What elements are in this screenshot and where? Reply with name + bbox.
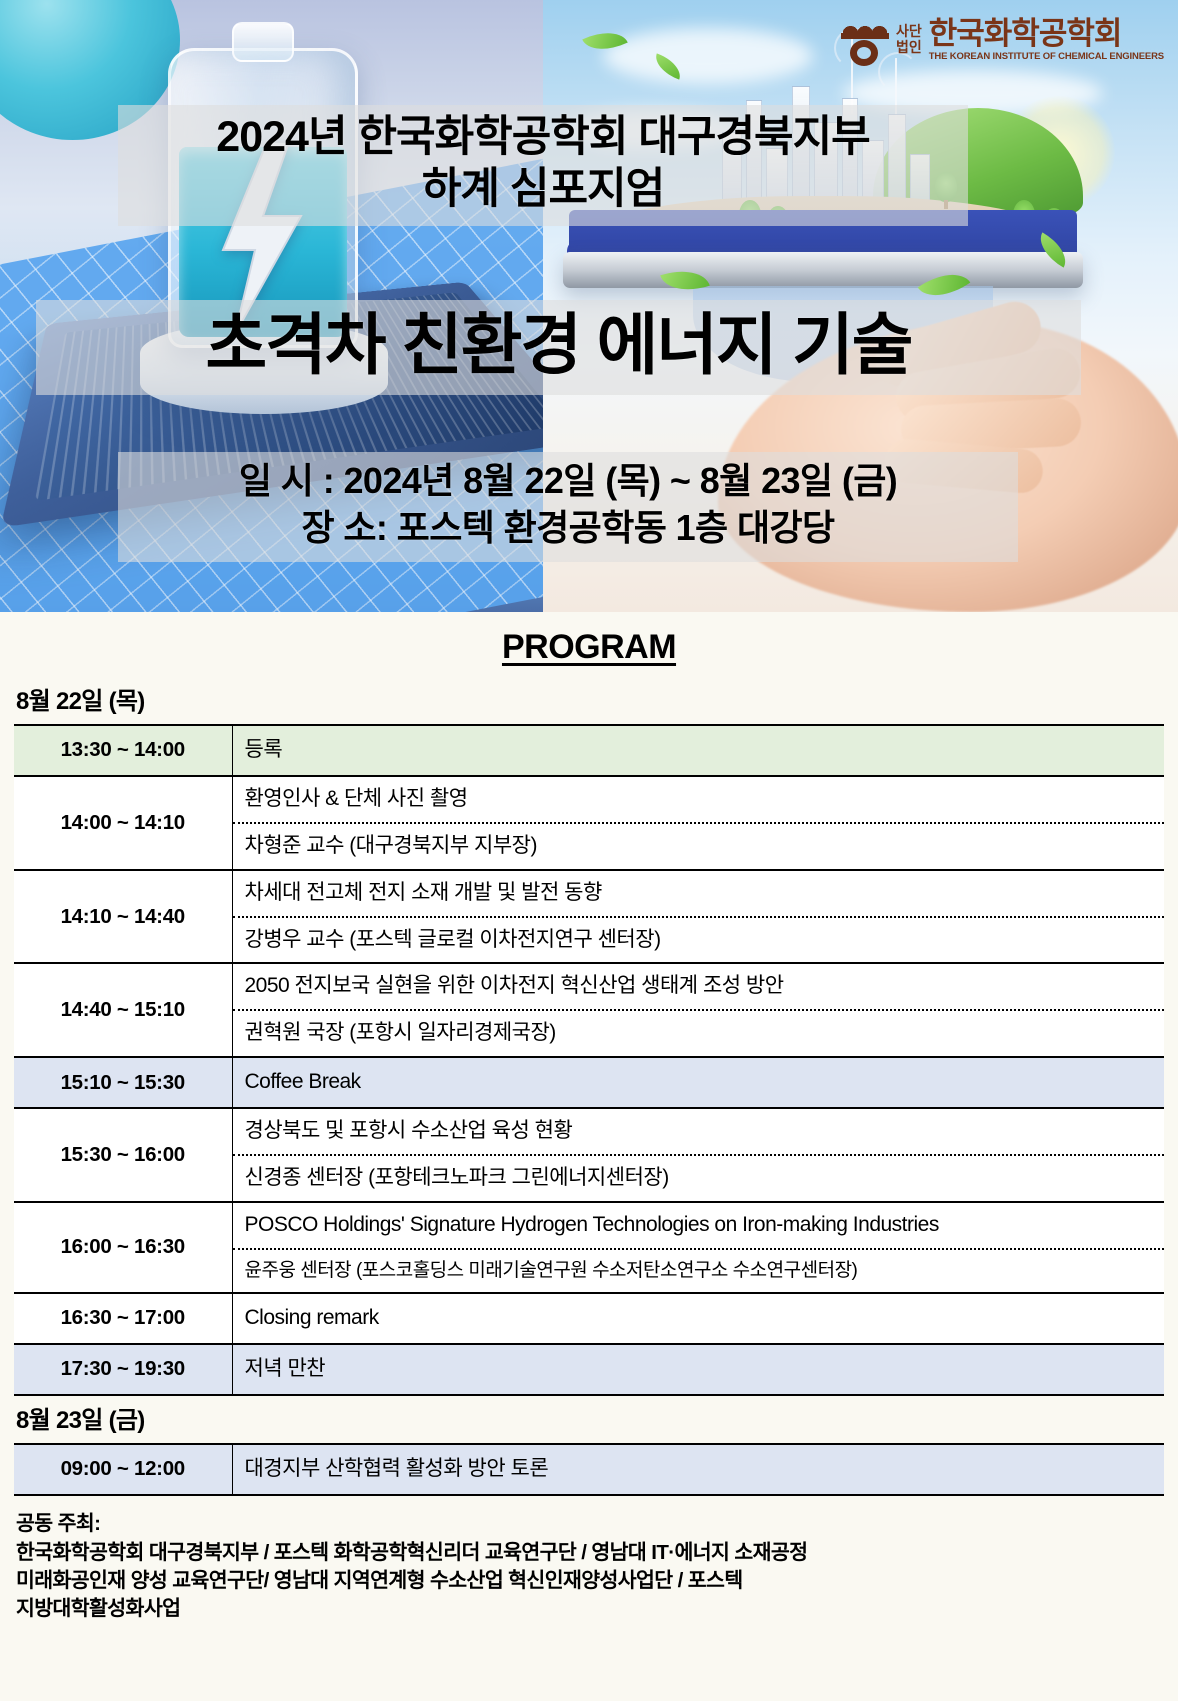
battery-cap (232, 22, 294, 62)
row-title: 2050 전지보국 실현을 위한 이차전지 혁신산업 생태계 조성 방안 (233, 964, 1165, 1009)
table-row: 16:00 ~ 16:30 POSCO Holdings' Signature … (14, 1202, 1164, 1293)
table-row: 09:00 ~ 12:00 대경지부 산학협력 활성화 방안 토론 (14, 1444, 1164, 1495)
table-row: 14:10 ~ 14:40 차세대 전고체 전지 소재 개발 및 발전 동향 강… (14, 870, 1164, 964)
row-time: 14:40 ~ 15:10 (14, 963, 232, 1057)
program-heading: PROGRAM (14, 628, 1164, 667)
day-label-1: 8월 22일 (목) (16, 681, 1164, 716)
row-time: 15:30 ~ 16:00 (14, 1108, 232, 1202)
row-title: 차세대 전고체 전지 소재 개발 및 발전 동향 (233, 871, 1165, 916)
logo-sadan-line2: 법인 (896, 40, 922, 56)
event-theme: 초격차 친환경 에너지 기술 (36, 300, 1081, 395)
row-content: 저녁 만찬 (232, 1344, 1164, 1395)
event-title-line1: 2024년 한국화학공학회 대구경북지부 (118, 111, 968, 163)
table-row: 16:30 ~ 17:00 Closing remark (14, 1293, 1164, 1344)
row-title: 대경지부 산학협력 활성화 방안 토론 (233, 1445, 1165, 1494)
row-speaker: 신경종 센터장 (포항테크노파크 그린에너지센터장) (233, 1154, 1165, 1201)
row-speaker: 윤주웅 센터장 (포스코홀딩스 미래기술연구원 수소저탄소연구소 수소연구센터장… (233, 1248, 1165, 1292)
cohost-section: 공동 주최: 한국화학공학회 대구경북지부 / 포스텍 화학공학혁신리더 교육연… (16, 1510, 1164, 1624)
row-time: 09:00 ~ 12:00 (14, 1444, 232, 1495)
row-content: 차세대 전고체 전지 소재 개발 및 발전 동향 강병우 교수 (포스텍 글로컬… (232, 870, 1164, 964)
row-title: 저녁 만찬 (233, 1345, 1165, 1394)
event-info: 일 시 : 2024년 8월 22일 (목) ~ 8월 23일 (금) 장 소:… (118, 452, 1018, 562)
kice-logo: 사단 법인 한국화학공학회 THE KOREAN INSTITUTE OF CH… (841, 14, 1164, 66)
row-time: 16:00 ~ 16:30 (14, 1202, 232, 1293)
row-title: Closing remark (233, 1294, 1165, 1343)
row-speaker: 권혁원 국장 (포항시 일자리경제국장) (233, 1009, 1165, 1056)
program-section: PROGRAM 8월 22일 (목) 13:30 ~ 14:00 등록 14:0… (0, 628, 1178, 1623)
schedule-table-day1: 13:30 ~ 14:00 등록 14:00 ~ 14:10 환영인사 & 단체… (14, 724, 1164, 1396)
table-row: 13:30 ~ 14:00 등록 (14, 725, 1164, 776)
cohost-heading: 공동 주최: (16, 1510, 1164, 1538)
table-row: 15:10 ~ 15:30 Coffee Break (14, 1057, 1164, 1108)
row-speaker: 강병우 교수 (포스텍 글로컬 이차전지연구 센터장) (233, 916, 1165, 963)
row-content: 대경지부 산학협력 활성화 방안 토론 (232, 1444, 1164, 1495)
table-row: 14:40 ~ 15:10 2050 전지보국 실현을 위한 이차전지 혁신산업… (14, 963, 1164, 1057)
row-title: 경상북도 및 포항시 수소산업 육성 현황 (233, 1109, 1165, 1154)
logo-korean-name: 한국화학공학회 (929, 18, 1164, 49)
row-time: 15:10 ~ 15:30 (14, 1057, 232, 1108)
row-title: POSCO Holdings' Signature Hydrogen Techn… (233, 1203, 1165, 1248)
row-content: 환영인사 & 단체 사진 촬영 차형준 교수 (대구경북지부 지부장) (232, 776, 1164, 870)
row-time: 13:30 ~ 14:00 (14, 725, 232, 776)
event-title: 2024년 한국화학공학회 대구경북지부 하계 심포지엄 (118, 105, 968, 226)
event-datetime: 일 시 : 2024년 8월 22일 (목) ~ 8월 23일 (금) (118, 458, 1018, 505)
row-speaker: 차형준 교수 (대구경북지부 지부장) (233, 822, 1165, 869)
row-time: 16:30 ~ 17:00 (14, 1293, 232, 1344)
row-title: 등록 (233, 726, 1165, 775)
row-title: 환영인사 & 단체 사진 촬영 (233, 777, 1165, 822)
row-content: POSCO Holdings' Signature Hydrogen Techn… (232, 1202, 1164, 1293)
logo-english-name: THE KOREAN INSTITUTE OF CHEMICAL ENGINEE… (929, 51, 1164, 62)
table-row: 17:30 ~ 19:30 저녁 만찬 (14, 1344, 1164, 1395)
cohost-line2: 미래화공인재 양성 교육연구단/ 영남대 지역연계형 수소산업 혁신인재양성사업… (16, 1569, 743, 1592)
cohost-line3: 지방대학활성화사업 (16, 1597, 180, 1620)
logo-corporation-label: 사단 법인 (896, 24, 922, 55)
row-time: 14:10 ~ 14:40 (14, 870, 232, 964)
row-content: Closing remark (232, 1293, 1164, 1344)
event-title-line2: 하계 심포지엄 (118, 163, 968, 215)
row-content: 경상북도 및 포항시 수소산업 육성 현황 신경종 센터장 (포항테크노파크 그… (232, 1108, 1164, 1202)
cohost-line1: 한국화학공학회 대구경북지부 / 포스텍 화학공학혁신리더 교육연구단 / 영남… (16, 1541, 807, 1564)
row-content: 2050 전지보국 실현을 위한 이차전지 혁신산업 생태계 조성 방안 권혁원… (232, 963, 1164, 1057)
kice-emblem-icon (841, 14, 889, 66)
event-venue: 장 소: 포스텍 환경공학동 1층 대강당 (118, 505, 1018, 552)
row-content: Coffee Break (232, 1057, 1164, 1108)
table-row: 14:00 ~ 14:10 환영인사 & 단체 사진 촬영 차형준 교수 (대구… (14, 776, 1164, 870)
tablet-device (563, 252, 1083, 288)
row-time: 17:30 ~ 19:30 (14, 1344, 232, 1395)
row-time: 14:00 ~ 14:10 (14, 776, 232, 870)
schedule-table-day2: 09:00 ~ 12:00 대경지부 산학협력 활성화 방안 토론 (14, 1443, 1164, 1496)
poster-banner: 사단 법인 한국화학공학회 THE KOREAN INSTITUTE OF CH… (0, 0, 1178, 612)
row-title: Coffee Break (233, 1058, 1165, 1107)
day-label-2: 8월 23일 (금) (16, 1400, 1164, 1435)
logo-sadan-line1: 사단 (896, 24, 922, 40)
row-content: 등록 (232, 725, 1164, 776)
table-row: 15:30 ~ 16:00 경상북도 및 포항시 수소산업 육성 현황 신경종 … (14, 1108, 1164, 1202)
